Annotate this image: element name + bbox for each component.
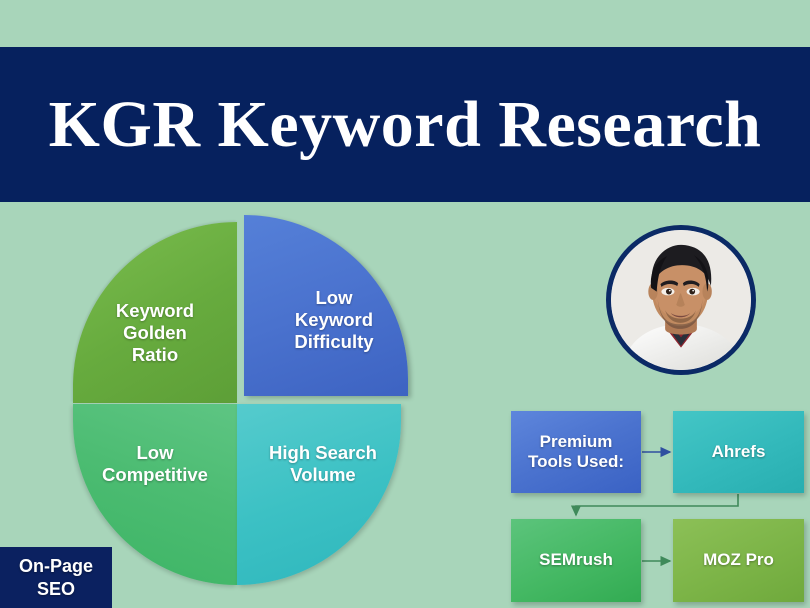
profile-photo-image (611, 230, 751, 370)
flow-box-moz-pro[interactable]: MOZ Pro (673, 519, 804, 602)
flowchart: Premium Tools Used: Ahrefs SEMrush MOZ P… (505, 405, 810, 608)
pie-slice-label: Low Keyword Difficulty (244, 287, 416, 352)
flow-box-label: Premium Tools Used: (528, 432, 624, 473)
pie-slice-keyword-golden-ratio[interactable]: Keyword Golden Ratio (73, 222, 237, 403)
flow-box-label: SEMrush (539, 550, 613, 570)
on-page-seo-badge: On-Page SEO (0, 547, 112, 608)
badge-line-2: SEO (37, 578, 75, 601)
pie-slice-low-keyword-difficulty[interactable]: Low Keyword Difficulty (244, 215, 408, 396)
slide-canvas: KGR Keyword Research Keyword Golden Rati… (0, 0, 810, 608)
pie-slice-label: Keyword Golden Ratio (73, 300, 243, 365)
pie-slice-label: High Search Volume (237, 442, 405, 486)
pie-chart: Keyword Golden Ratio Low Keyword Difficu… (65, 222, 425, 582)
flow-box-label: MOZ Pro (703, 550, 774, 570)
badge-line-1: On-Page (19, 555, 93, 578)
flow-box-ahrefs[interactable]: Ahrefs (673, 411, 804, 493)
avatar (606, 225, 756, 375)
flow-box-label: Ahrefs (712, 442, 766, 462)
title-banner: KGR Keyword Research (0, 47, 810, 202)
page-title: KGR Keyword Research (49, 92, 762, 158)
flow-box-semrush[interactable]: SEMrush (511, 519, 641, 602)
connector-ahrefs-to-semrush (576, 494, 738, 515)
pie-slice-label: Low Competitive (73, 442, 243, 486)
flow-box-premium-tools[interactable]: Premium Tools Used: (511, 411, 641, 493)
pie-slice-high-search-volume[interactable]: High Search Volume (237, 404, 401, 585)
